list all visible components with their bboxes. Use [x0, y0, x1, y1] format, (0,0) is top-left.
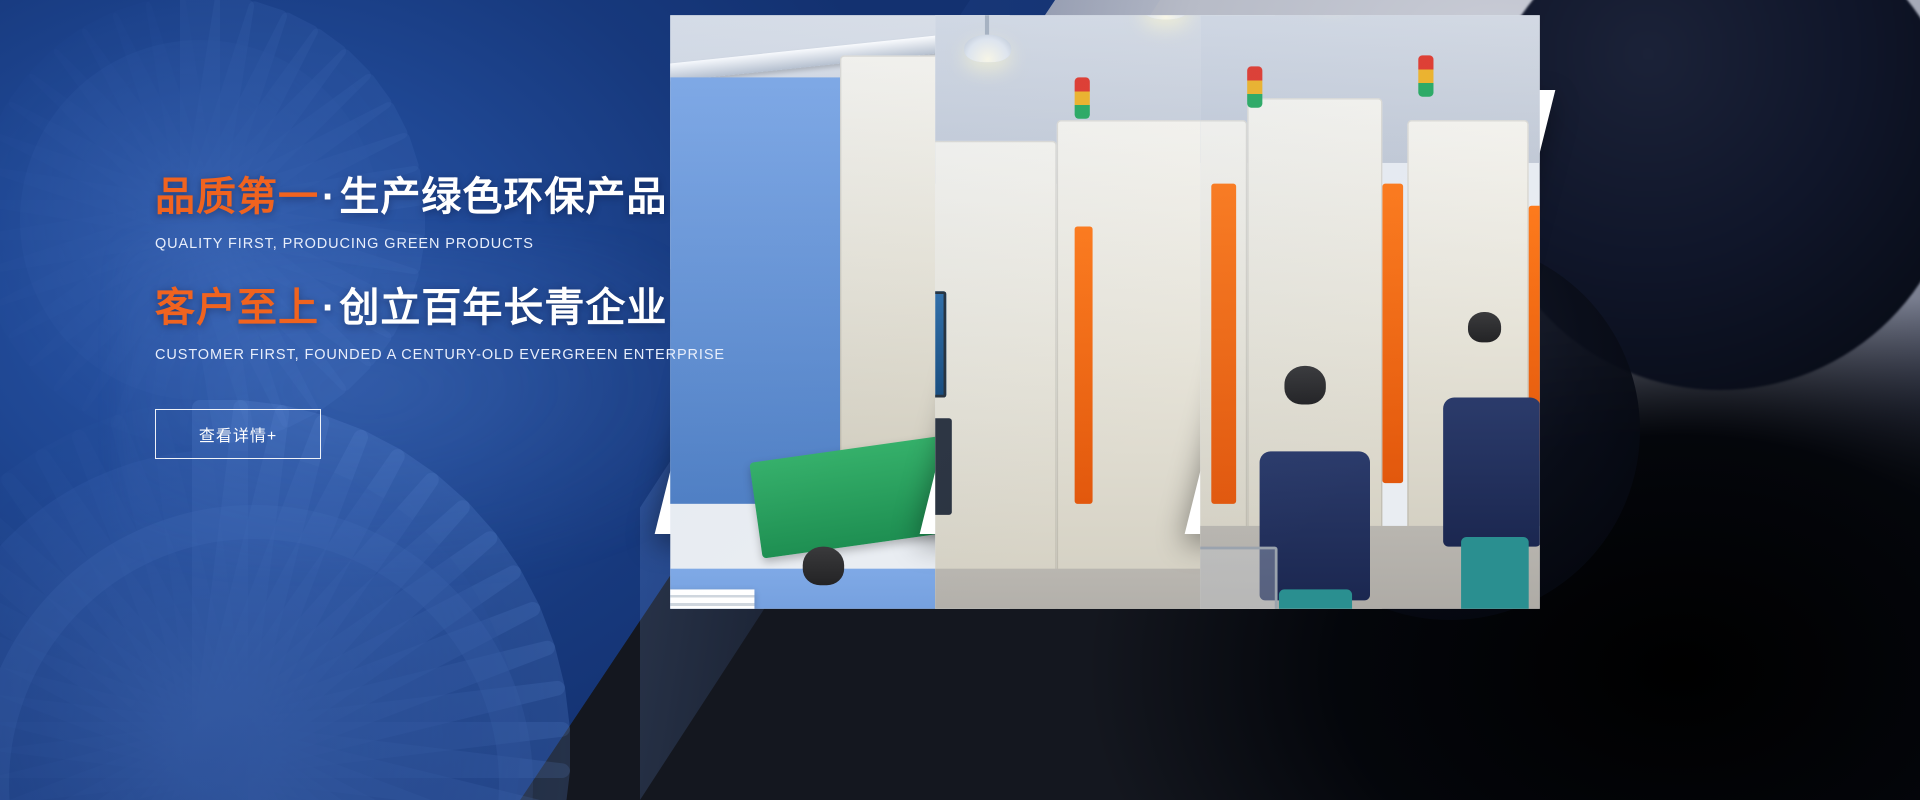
headline-primary-separator: ·: [319, 175, 339, 219]
headline-secondary-rest: 创立百年长青企业: [339, 286, 667, 330]
view-details-button[interactable]: 查看详情+: [155, 409, 321, 459]
hero-banner: 品质第一·生产绿色环保产品 QUALITY FIRST, PRODUCING G…: [0, 0, 1920, 800]
subtitle-secondary: CUSTOMER FIRST, FOUNDED A CENTURY-OLD EV…: [155, 347, 795, 363]
headline-primary-accent: 品质第一: [155, 175, 319, 219]
photo-card-3[interactable]: [1185, 90, 1556, 534]
headline-primary: 品质第一·生产绿色环保产品: [155, 175, 795, 220]
photo-card-3-image: [1200, 15, 1539, 608]
headline-primary-rest: 生产绿色环保产品: [339, 175, 667, 219]
banner-content: 品质第一·生产绿色环保产品 QUALITY FIRST, PRODUCING G…: [155, 175, 795, 459]
subtitle-primary: QUALITY FIRST, PRODUCING GREEN PRODUCTS: [155, 236, 795, 252]
headline-secondary-accent: 客户至上: [155, 286, 319, 330]
headline-secondary: 客户至上·创立百年长青企业: [155, 286, 795, 331]
headline-secondary-separator: ·: [319, 286, 339, 330]
headline-spacer: [155, 252, 795, 286]
